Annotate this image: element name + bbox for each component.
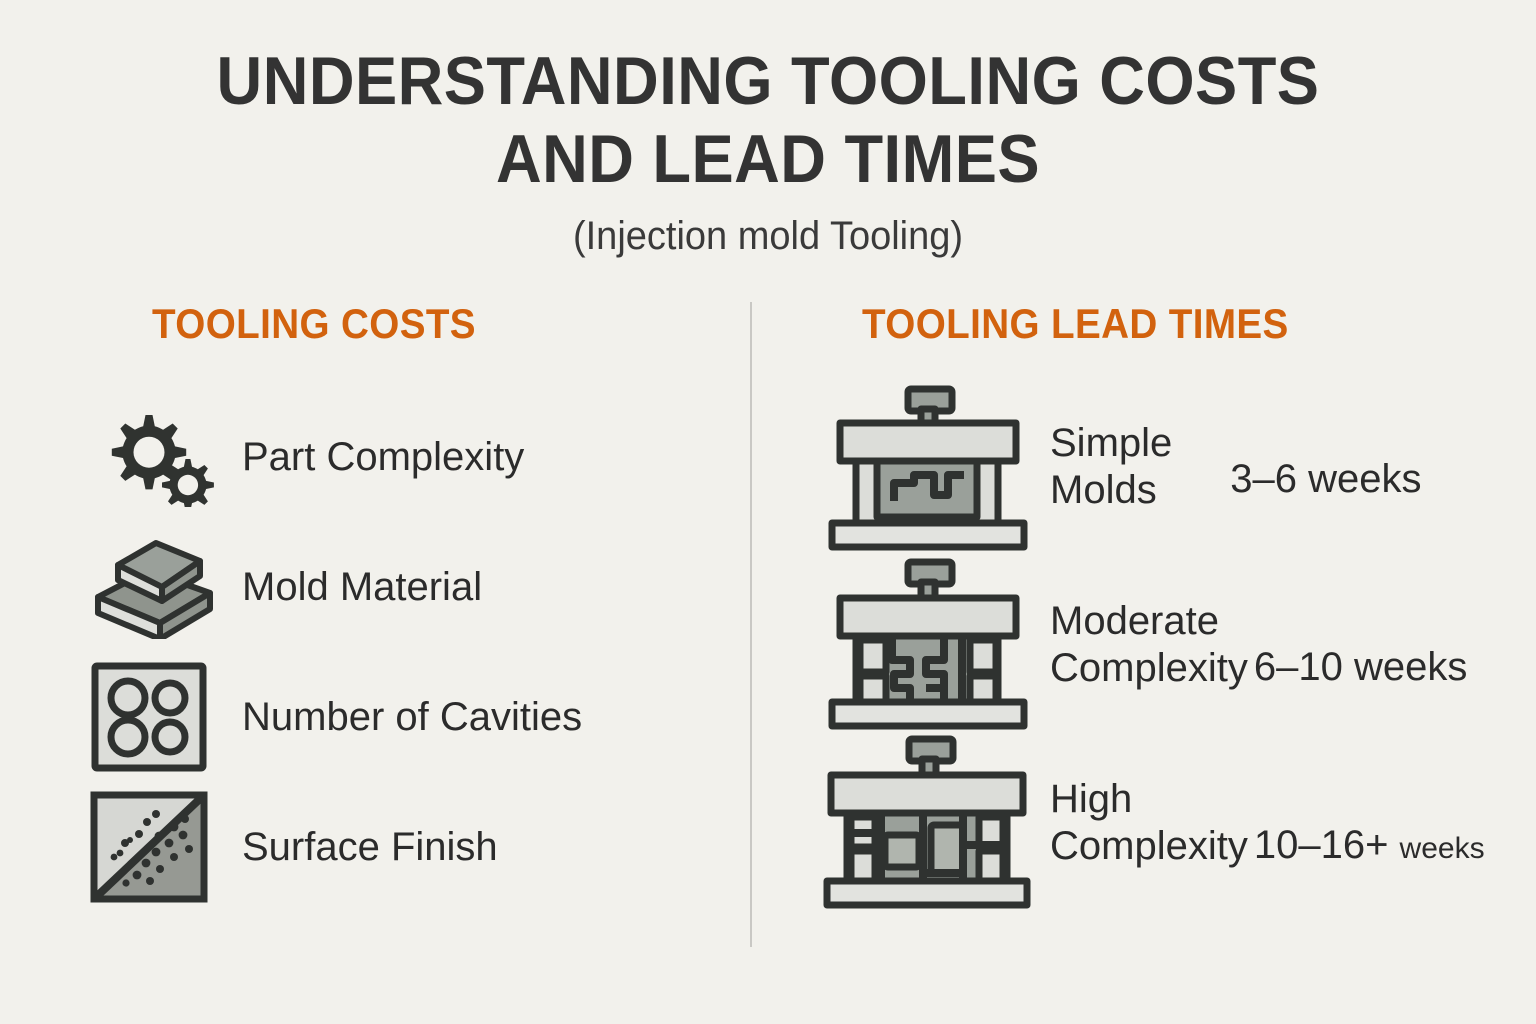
lead-time-weeks: 10–16+ weeks: [1254, 823, 1485, 870]
tooling-lead-times-column: TOOLING LEAD TIMES: [752, 300, 1536, 912]
list-item[interactable]: Moderate Complexity 6–10 weeks: [812, 556, 1536, 734]
lead-time-name: Moderate Complexity: [1050, 598, 1248, 692]
lead-time-weeks: 3–6 weeks: [1230, 457, 1421, 514]
surface-finish-icon: [90, 791, 220, 903]
stacked-blocks-icon: [90, 535, 220, 639]
tooling-costs-heading: TOOLING COSTS: [152, 300, 700, 348]
infographic-page: UNDERSTANDING TOOLING COSTS AND LEAD TIM…: [0, 0, 1536, 1024]
list-item-label: Surface Finish: [242, 825, 498, 870]
lead-time-text: High Complexity 10–16+ weeks: [1042, 776, 1485, 870]
page-subtitle: (Injection mold Tooling): [38, 212, 1497, 260]
list-item[interactable]: Number of Cavities: [90, 652, 748, 782]
list-item-label: Number of Cavities: [242, 695, 582, 740]
mold-press-simple-icon: [812, 383, 1042, 551]
mold-press-high-icon: [812, 733, 1042, 913]
tooling-lead-times-heading: TOOLING LEAD TIMES: [862, 300, 1482, 348]
lead-time-text: Simple Molds 3–6 weeks: [1042, 420, 1422, 514]
list-item[interactable]: Simple Molds 3–6 weeks: [812, 378, 1536, 556]
tooling-lead-times-list: Simple Molds 3–6 weeks: [812, 378, 1536, 912]
mold-press-moderate-icon: [812, 556, 1042, 734]
list-item[interactable]: Surface Finish: [90, 782, 748, 912]
tooling-costs-column: TOOLING COSTS Part Complexity: [0, 300, 748, 912]
tooling-costs-list: Part Complexity: [90, 392, 748, 912]
gears-icon: [90, 407, 220, 507]
lead-time-weeks-unit: weeks: [1400, 832, 1485, 865]
list-item[interactable]: High Complexity 10–16+ weeks: [812, 734, 1536, 912]
list-item[interactable]: Mold Material: [90, 522, 748, 652]
list-item-label: Part Complexity: [242, 435, 524, 480]
list-item[interactable]: Part Complexity: [90, 392, 748, 522]
lead-time-weeks: 6–10 weeks: [1254, 645, 1467, 692]
four-cavities-icon: [90, 661, 220, 773]
lead-time-name: High Complexity: [1050, 776, 1248, 870]
page-title: UNDERSTANDING TOOLING COSTS AND LEAD TIM…: [54, 42, 1482, 198]
lead-time-name: Simple Molds: [1050, 420, 1172, 514]
header: UNDERSTANDING TOOLING COSTS AND LEAD TIM…: [0, 42, 1536, 260]
lead-time-weeks-main: 10–16+: [1254, 823, 1400, 867]
list-item-label: Mold Material: [242, 565, 482, 610]
lead-time-text: Moderate Complexity 6–10 weeks: [1042, 598, 1467, 692]
